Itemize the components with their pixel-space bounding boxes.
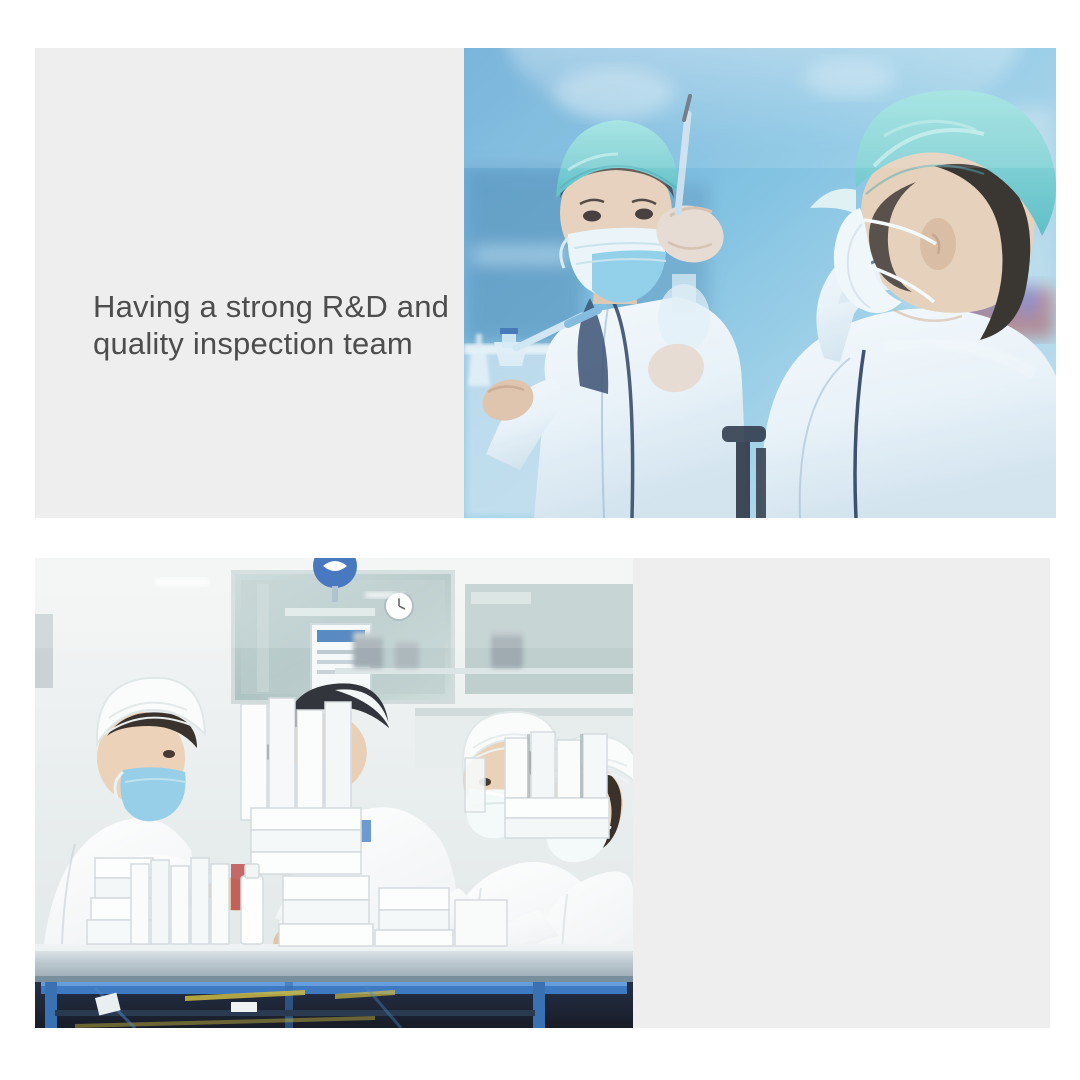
lab-inspection-photo-graphic <box>464 48 1056 518</box>
bottom-section: a warehouse distribution area a warehous… <box>0 540 1080 1080</box>
warehouse-packing-photo <box>35 558 633 1028</box>
bottom-caption-panel: a warehouse distribution area a warehous… <box>633 558 1050 1028</box>
top-caption-text: Having a strong R&D and quality inspecti… <box>93 288 493 362</box>
lab-inspection-photo <box>464 48 1056 518</box>
top-caption-panel: Having a strong R&D and quality inspecti… <box>35 48 464 518</box>
warehouse-packing-photo-graphic <box>35 558 633 1028</box>
top-section: Having a strong R&D and quality inspecti… <box>0 0 1080 540</box>
